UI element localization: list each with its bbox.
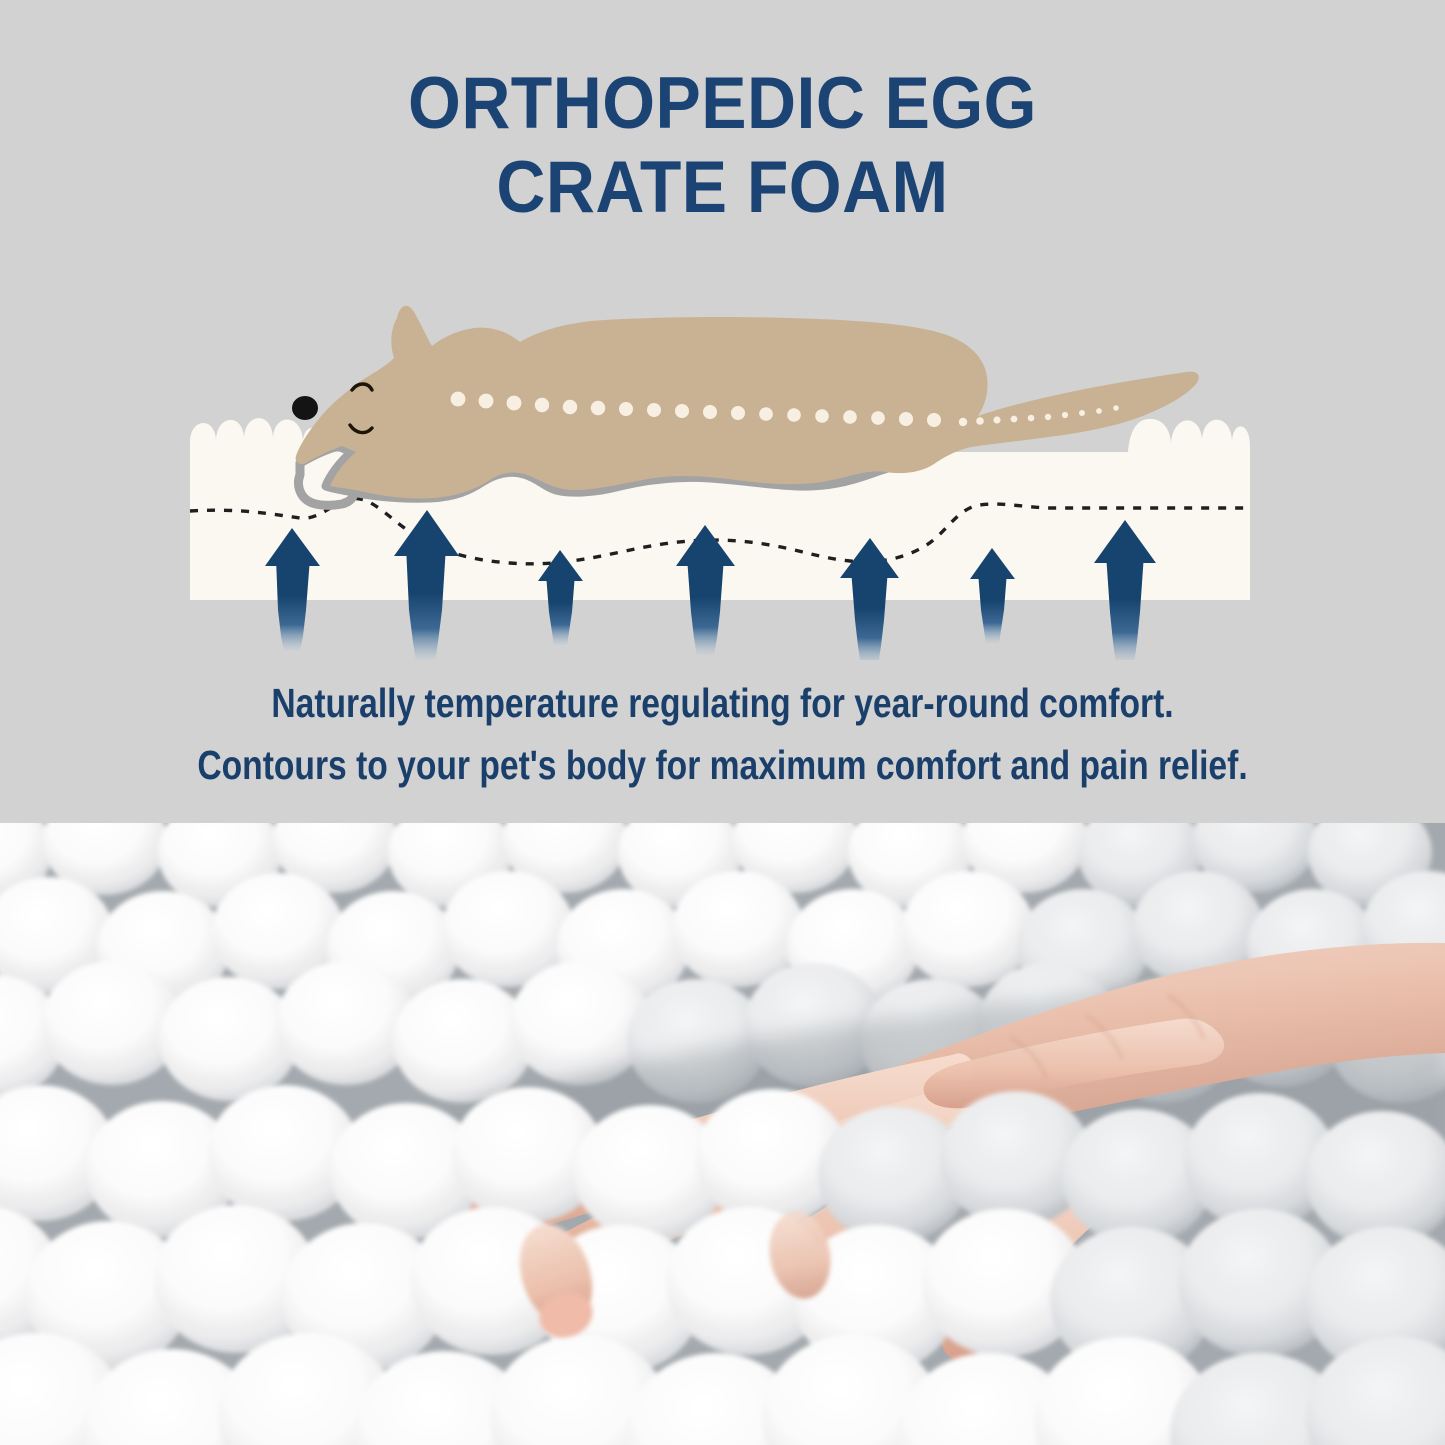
page-title: ORTHOPEDIC EGG CRATE FOAM <box>51 62 1395 230</box>
tagline-line-1: Naturally temperature regulating for yea… <box>130 672 1315 734</box>
diagram-panel: ORTHOPEDIC EGG CRATE FOAM <box>0 0 1445 823</box>
product-infographic: ORTHOPEDIC EGG CRATE FOAM <box>0 0 1445 1445</box>
foam-cross-section-diagram <box>0 280 1445 660</box>
dog-nose <box>292 396 318 420</box>
photo-overlay <box>0 823 1445 1445</box>
tagline: Naturally temperature regulating for yea… <box>130 672 1315 796</box>
tagline-line-2: Contours to your pet's body for maximum … <box>130 734 1315 796</box>
foam-photo <box>0 823 1445 1445</box>
